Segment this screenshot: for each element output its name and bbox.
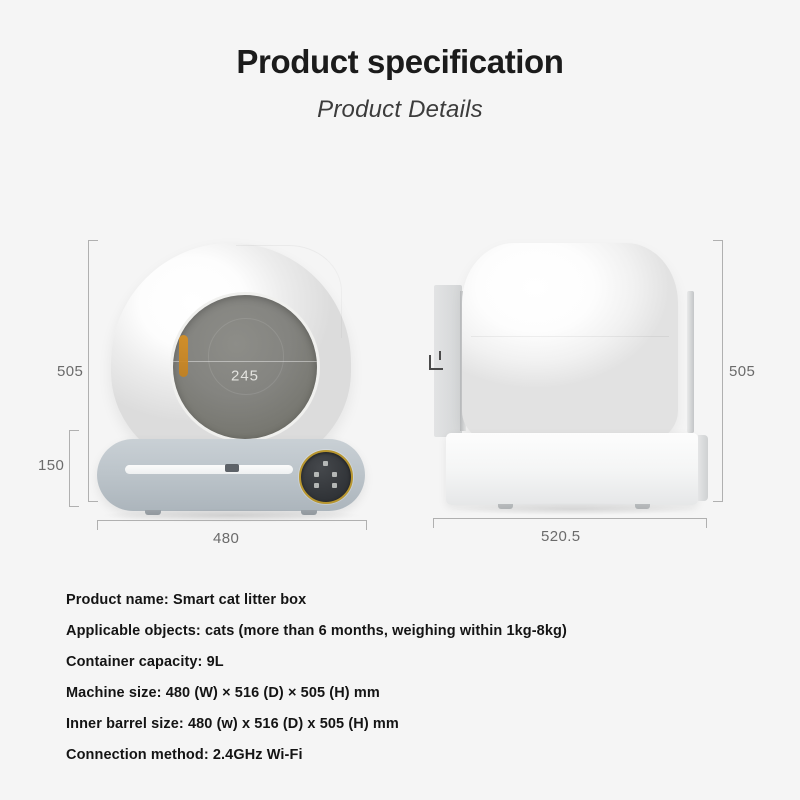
- side-view-illustration: [434, 243, 706, 521]
- front-view-illustration: 245: [97, 243, 365, 521]
- front-base-height-label: 150: [38, 457, 64, 474]
- product-diagram: 245: [0, 0, 800, 580]
- spec-container-capacity: Container capacity: 9L: [66, 654, 766, 670]
- base-center-marker: [225, 464, 239, 472]
- clean-icon: [314, 472, 319, 477]
- spec-product-name: Product name: Smart cat litter box: [66, 592, 766, 608]
- front-width-label: 480: [213, 530, 239, 547]
- power-icon: [323, 461, 328, 466]
- side-seam-line: [471, 336, 670, 337]
- front-width-bracket: [97, 520, 367, 530]
- side-depth-bracket: [433, 518, 707, 528]
- side-height-bracket: [713, 240, 723, 502]
- orange-sensor-tab: [179, 335, 188, 377]
- side-hinge-marking-bar-icon: [439, 351, 441, 360]
- level-icon: [314, 483, 319, 488]
- front-height-bracket: [88, 240, 98, 502]
- litter-box-base: [97, 439, 365, 511]
- litter-level-value: 245: [231, 367, 259, 384]
- litter-box-side-body: [462, 243, 678, 445]
- empty-icon: [332, 472, 337, 477]
- side-depth-label: 520.5: [541, 528, 581, 545]
- base-drawer-slot: [125, 465, 293, 474]
- litter-box-opening: 245: [173, 295, 317, 439]
- side-right-edge: [687, 291, 694, 433]
- side-base-right-cap: [698, 435, 708, 501]
- specifications-list: Product name: Smart cat litter box Appli…: [66, 592, 766, 778]
- spec-applicable-objects: Applicable objects: cats (more than 6 mo…: [66, 623, 766, 639]
- wifi-icon: [332, 483, 337, 488]
- front-height-label: 505: [57, 363, 83, 380]
- control-panel-dial: [299, 450, 353, 504]
- front-base-height-bracket: [69, 430, 79, 507]
- side-view-shadow: [450, 503, 698, 515]
- spec-inner-barrel-size: Inner barrel size: 480 (w) x 516 (D) x 5…: [66, 716, 766, 732]
- side-height-label: 505: [729, 363, 755, 380]
- spec-machine-size: Machine size: 480 (W) × 516 (D) × 505 (H…: [66, 685, 766, 701]
- litter-box-side-base: [446, 433, 698, 505]
- spec-connection-method: Connection method: 2.4GHz Wi-Fi: [66, 747, 766, 763]
